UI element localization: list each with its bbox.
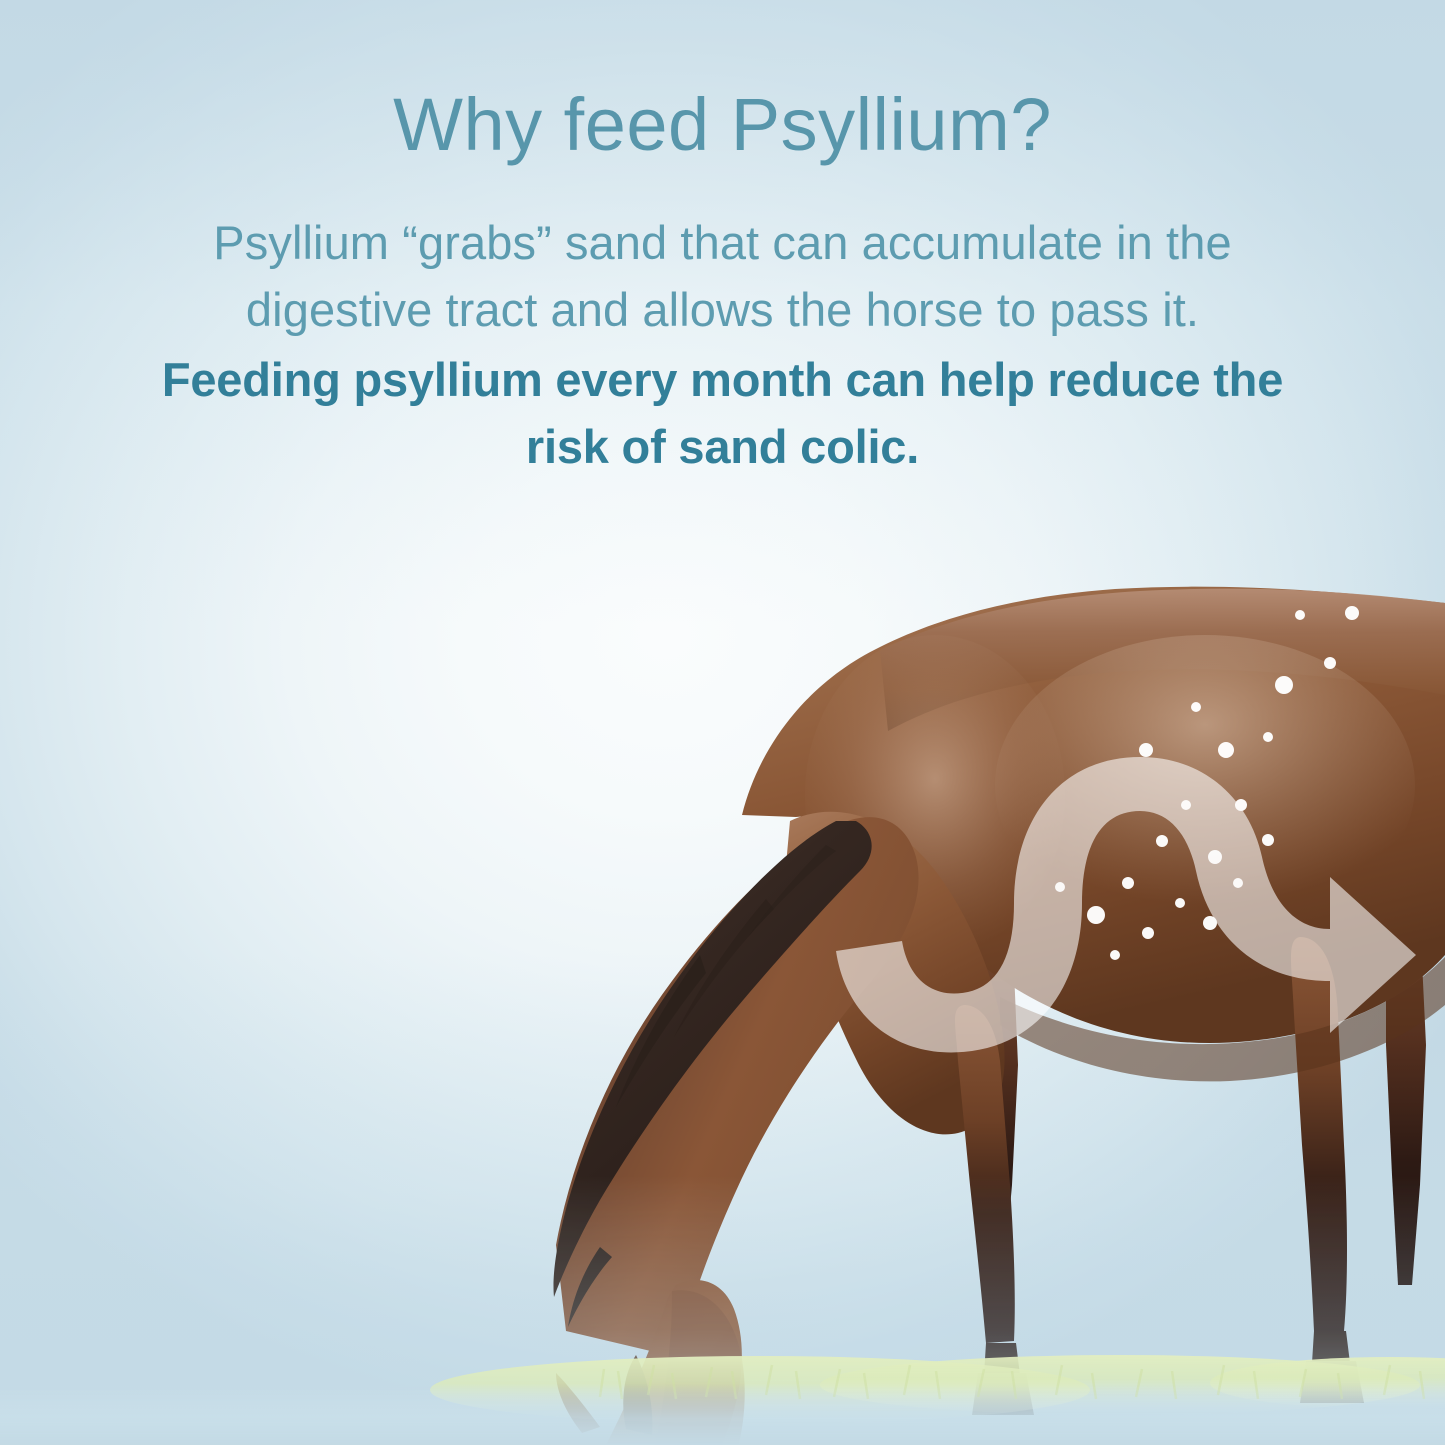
text-block: Why feed Psyllium? Psyllium “grabs” sand…	[0, 0, 1445, 481]
ground-fade	[0, 1385, 1445, 1445]
grass-ground	[0, 1355, 1445, 1445]
body-line-2: digestive tract and allows the horse to …	[0, 277, 1445, 344]
emphasis-copy: Feeding psyllium every month can help re…	[0, 343, 1445, 480]
body-copy: Psyllium “grabs” sand that can accumulat…	[0, 162, 1445, 343]
body-line-1: Psyllium “grabs” sand that can accumulat…	[0, 210, 1445, 277]
emphasis-line-1: Feeding psyllium every month can help re…	[0, 347, 1445, 414]
emphasis-line-2: risk of sand colic.	[0, 414, 1445, 481]
page-title: Why feed Psyllium?	[0, 0, 1445, 162]
horse-neck	[556, 817, 919, 1357]
horse-illustration	[0, 485, 1445, 1445]
horse-scene-svg	[0, 485, 1445, 1445]
poster-canvas: Why feed Psyllium? Psyllium “grabs” sand…	[0, 0, 1445, 1445]
